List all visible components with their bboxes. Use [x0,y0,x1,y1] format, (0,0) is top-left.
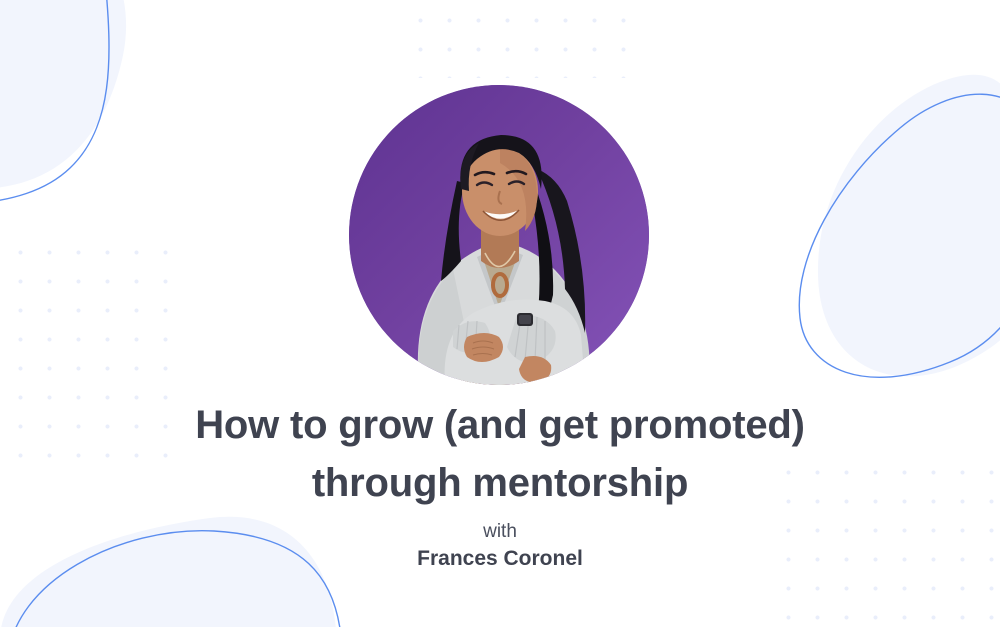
blob-outline-top-left [0,0,109,205]
blob-fill-top-right [818,75,1000,377]
webinar-title-card: How to grow (and get promoted) through m… [0,0,1000,627]
title-line-1: How to grow (and get promoted) [0,396,1000,454]
page-title: How to grow (and get promoted) through m… [0,396,1000,512]
blob-fill-top-left [0,0,126,189]
with-label: with [0,521,1000,543]
dot-grid-top [400,0,626,78]
speaker-name: Frances Coronel [0,547,1000,571]
title-line-2: through mentorship [0,454,1000,512]
blob-outline-bottom-left [8,531,342,627]
speaker-portrait [349,85,649,385]
blob-outline-top-right [799,94,1000,377]
